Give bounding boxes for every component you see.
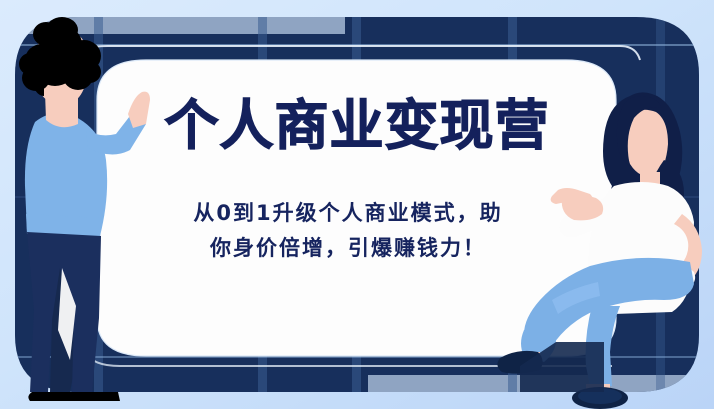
banner-title: 个人商业变现营 [0, 96, 714, 156]
course-promo-banner: 个人商业变现营 从0到1升级个人商业模式，助 你身价倍增，引爆赚钱力！ [0, 0, 714, 409]
subtitle-line-2: 你身价倍增，引爆赚钱力！ [118, 231, 578, 266]
subtitle-line-1: 从0到1升级个人商业模式，助 [118, 196, 578, 231]
banner-subtitle: 从0到1升级个人商业模式，助 你身价倍增，引爆赚钱力！ [118, 196, 578, 266]
